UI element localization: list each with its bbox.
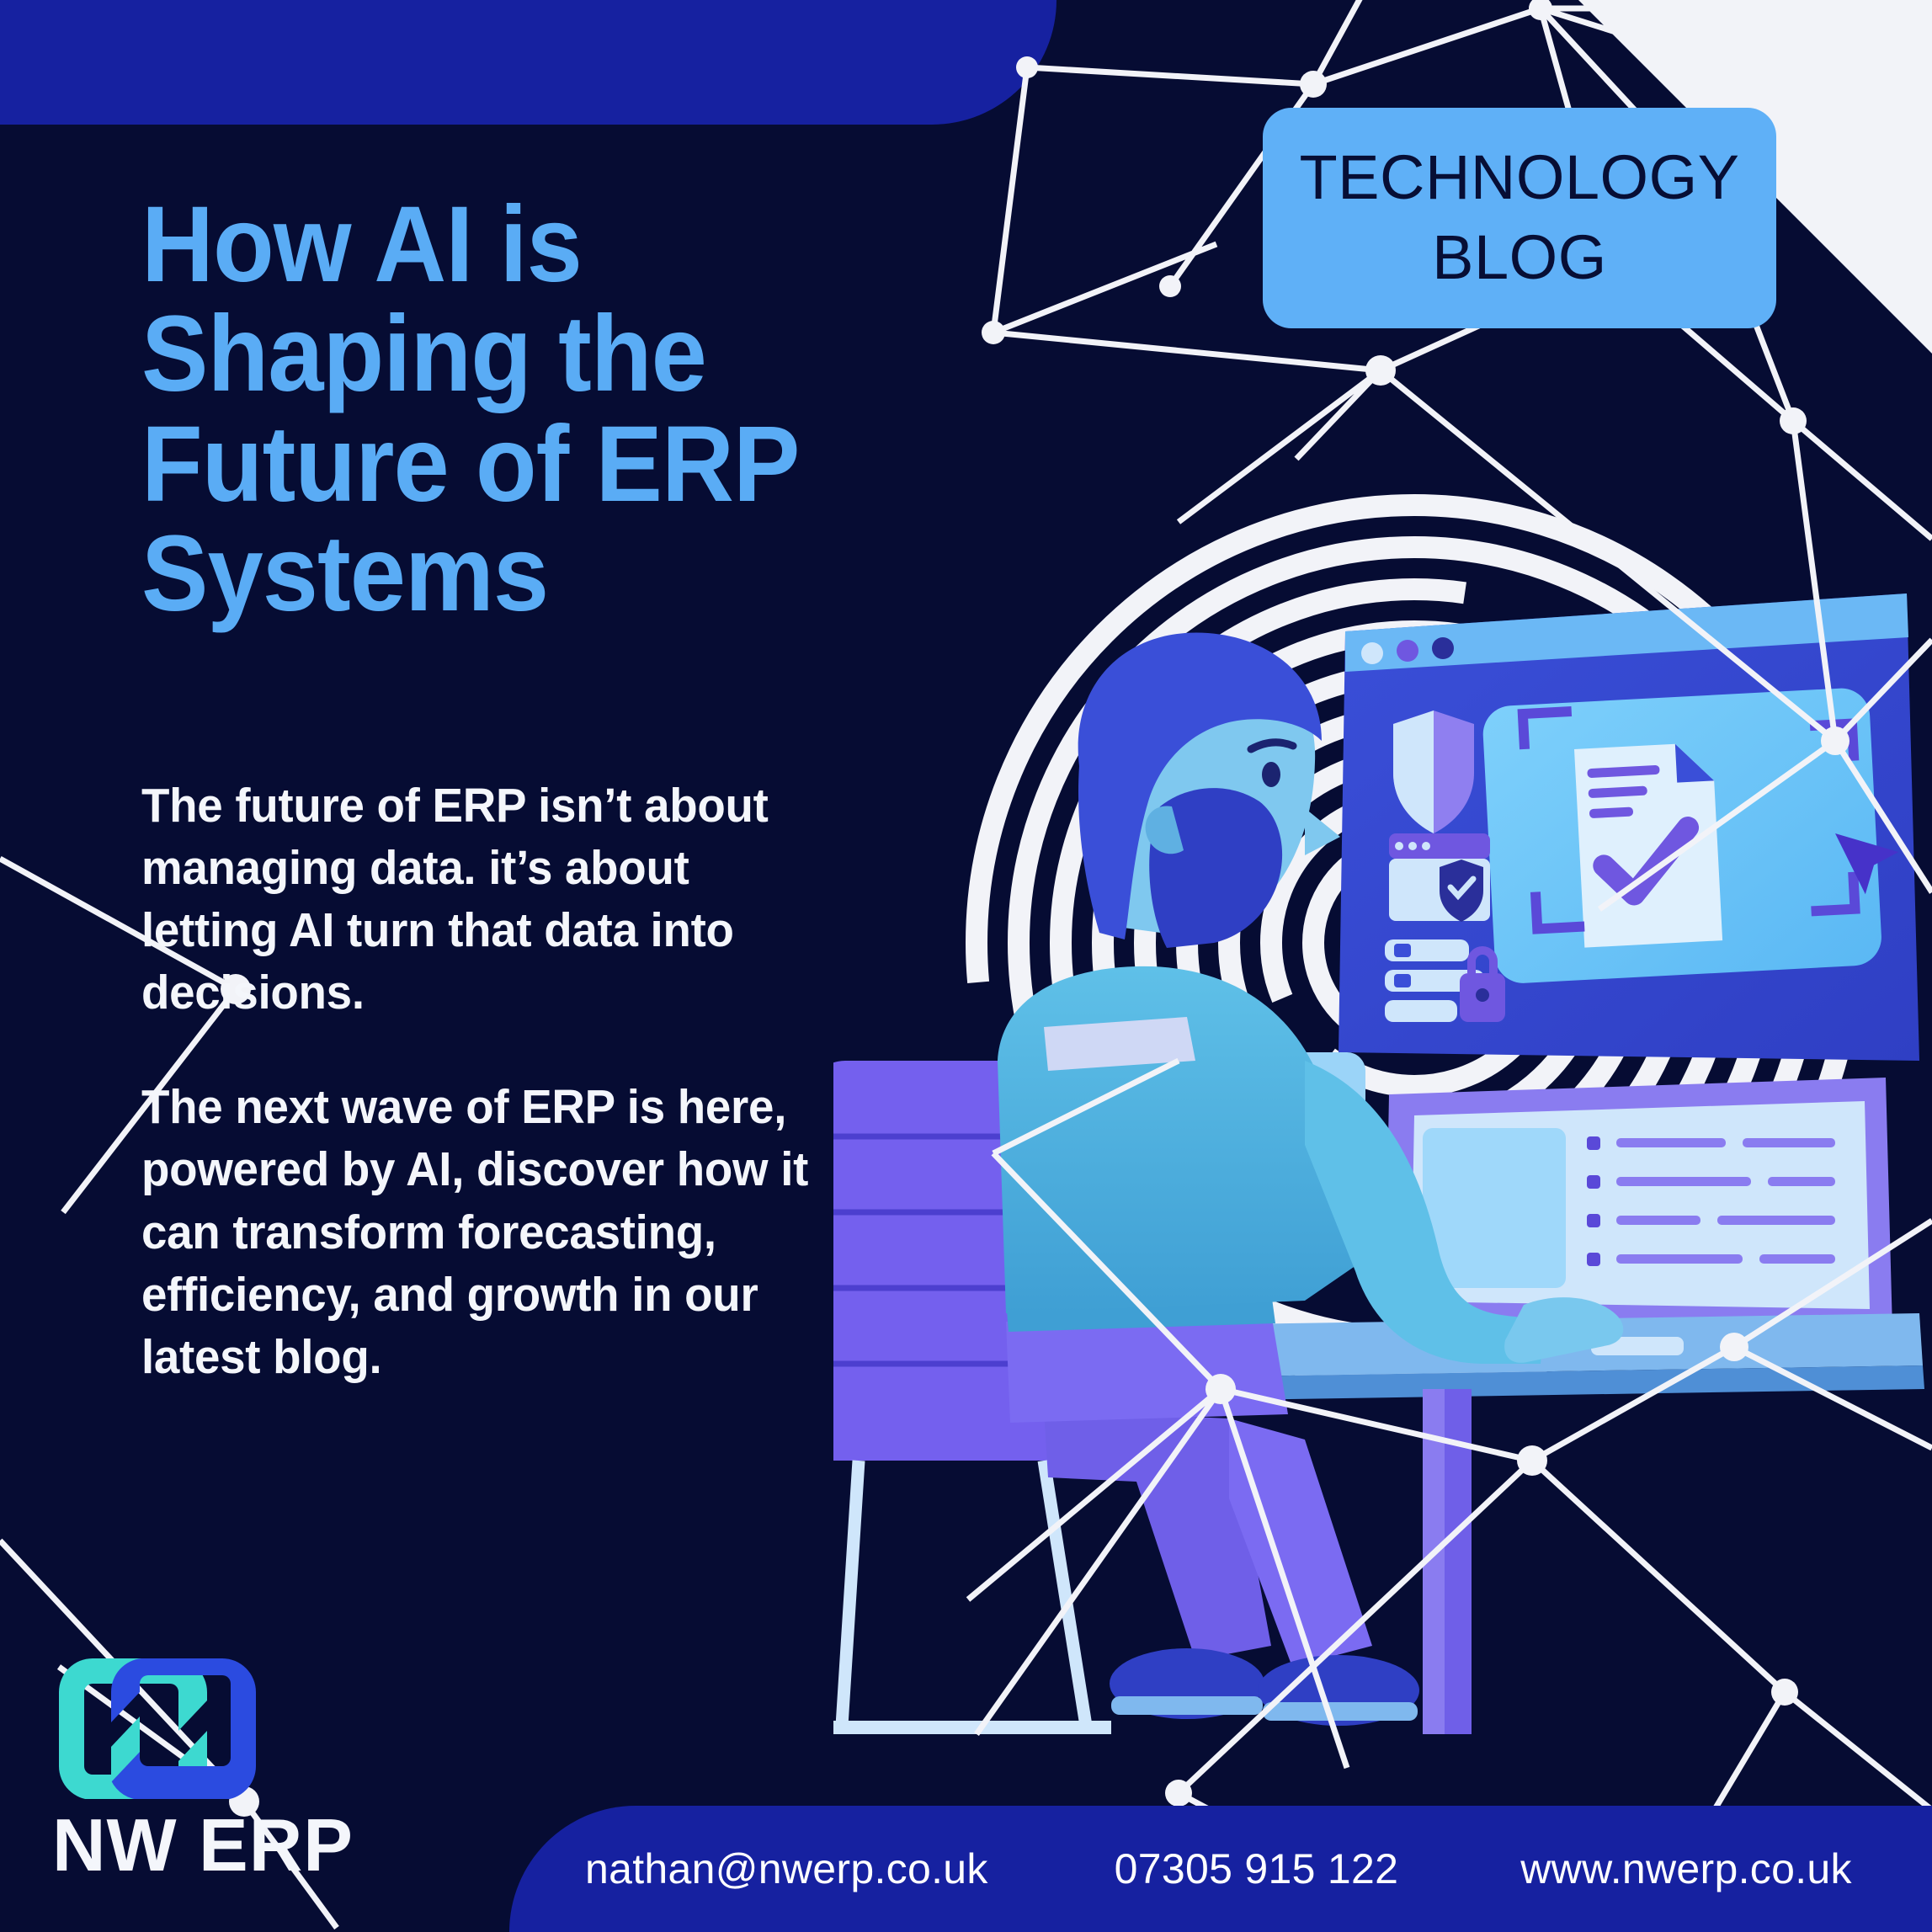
body-copy: The future of ERP isn’t about managing d… xyxy=(141,774,840,1440)
footer-website[interactable]: www.nwerp.co.uk xyxy=(1520,1844,1852,1893)
page-title: How AI is Shaping the Future of ERP Syst… xyxy=(141,190,1003,630)
poster-canvas: How AI is Shaping the Future of ERP Syst… xyxy=(0,0,1932,1932)
brand-logo: NW ERP xyxy=(52,1643,406,1888)
status-badge: TECHNOLOGY BLOG xyxy=(1263,108,1776,328)
laptop-screen xyxy=(1385,1078,1892,1330)
footer-phone[interactable]: 07305 915 122 xyxy=(1115,1844,1399,1893)
body-paragraph-2: The next wave of ERP is here, powered by… xyxy=(141,1076,812,1387)
badge-line-2: BLOG xyxy=(1432,218,1607,298)
security-card-icon xyxy=(1389,833,1490,922)
interlocking-squares-logo-icon xyxy=(52,1643,263,1799)
footer-contact-bar: nathan@nwerp.co.uk 07305 915 122 www.nwe… xyxy=(509,1806,1932,1932)
badge-line-1: TECHNOLOGY xyxy=(1299,138,1739,218)
hero-illustration xyxy=(833,471,1932,1734)
lock-list-icon xyxy=(1385,939,1505,1022)
top-left-blue-band xyxy=(0,0,1056,125)
monitor-screen xyxy=(1339,593,1919,1061)
brand-wordmark: NW ERP xyxy=(52,1802,406,1888)
footer-email[interactable]: nathan@nwerp.co.uk xyxy=(585,1844,988,1893)
body-paragraph-1: The future of ERP isn’t about managing d… xyxy=(141,774,812,1024)
